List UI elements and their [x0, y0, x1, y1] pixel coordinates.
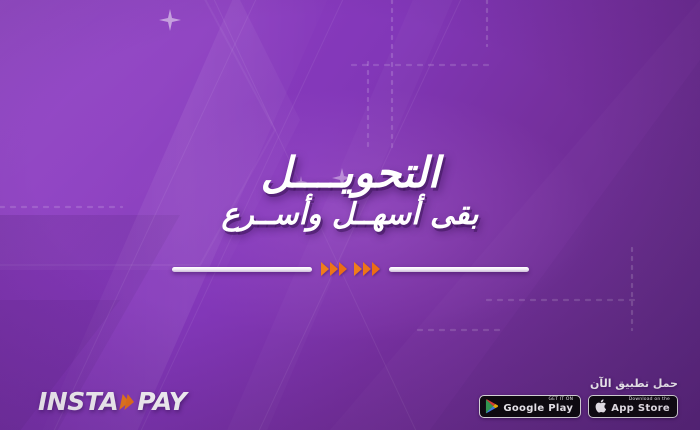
chevron-right-icon: [354, 262, 362, 276]
divider-rule-left: [172, 267, 312, 272]
double-chevron-right-icon: [354, 262, 380, 276]
chevron-right-icon: [363, 262, 371, 276]
chevron-right-icon: [330, 262, 338, 276]
apple-logo-icon: [594, 398, 607, 414]
chevron-right-icon: [125, 394, 136, 410]
logo-text-insta: INSTA: [38, 389, 118, 414]
download-cluster: حمل تطبيق الآن Download on the App Store: [479, 377, 678, 418]
headline-line-2: بقى أسهــل وأســرع: [0, 200, 700, 230]
divider-rule-right: [389, 267, 529, 272]
chevron-right-icon: [321, 262, 329, 276]
triangle-shape-right-2: [430, 60, 700, 430]
decorative-divider: [0, 262, 700, 276]
download-caption: حمل تطبيق الآن: [479, 377, 678, 390]
headline-line-1: التحويــــل: [0, 152, 700, 194]
app-store-badge-text: Download on the App Store: [611, 398, 670, 414]
instapay-promo-banner: التحويــــل بقى أسهــل وأســرع INSTA PAY: [0, 0, 700, 430]
app-store-badge[interactable]: Download on the App Store: [588, 395, 678, 418]
chevron-right-icon: [339, 262, 347, 276]
sparkle-icon: [159, 9, 181, 31]
google-play-badge-text: GET IT ON Google Play: [503, 398, 573, 414]
google-play-badge-main: Google Play: [503, 404, 573, 414]
chevron-right-icon: [372, 262, 380, 276]
divider-chevrons: [321, 262, 380, 276]
headline-block: التحويــــل بقى أسهــل وأســرع: [0, 152, 700, 230]
logo-chevron-group: [120, 394, 136, 410]
store-badges: Download on the App Store GET IT ON Goog…: [479, 395, 678, 418]
instapay-logo: INSTA PAY: [38, 389, 186, 414]
logo-text-pay: PAY: [137, 389, 186, 414]
google-play-badge[interactable]: GET IT ON Google Play: [479, 395, 581, 418]
app-store-badge-main: App Store: [611, 404, 670, 414]
double-chevron-right-icon: [321, 262, 347, 276]
google-play-icon: [485, 399, 499, 414]
